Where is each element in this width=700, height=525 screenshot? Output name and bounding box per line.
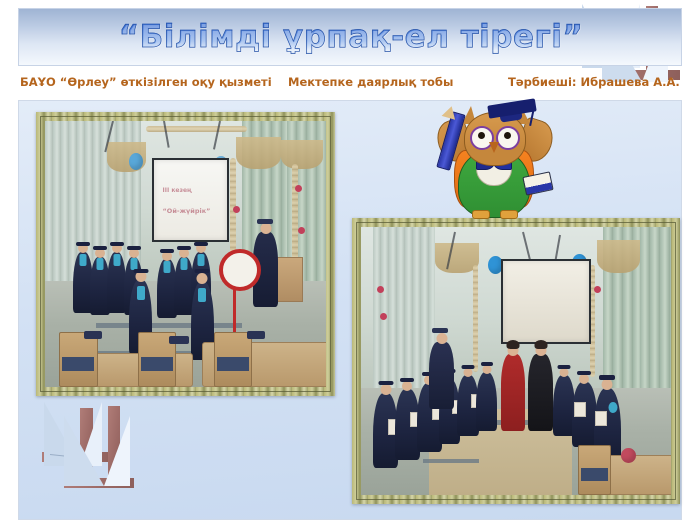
garland [146,126,247,132]
photo-left-image: III кезең “Ой-жүйрік” [45,121,326,387]
owl-foot-left [472,210,490,219]
teacher-hair [506,340,519,349]
screen-line-2: “Ой-жүйрік” [163,207,211,215]
floor-stripe [423,459,479,463]
graduation-cap-on-table [247,331,265,339]
screen-line-1: III кезең [163,187,192,194]
subtitle-teacher: Тәрбиеші: Ибрашева А.А. [508,72,680,92]
pyramid-face-left [64,416,104,486]
hall-scene: III кезең “Ой-жүйрік” [45,121,326,387]
subtitle-group: Мектепке даярлық тобы [288,72,453,92]
floor-stripe [96,323,242,328]
teacher-black [528,324,553,431]
graduation-cap [133,269,148,273]
face [560,368,569,377]
chair [578,445,611,495]
pyramid-face-right [104,416,130,486]
teacher-dress [501,354,526,431]
teacher-hair [534,340,547,349]
book-icon [522,171,553,195]
presentation-slide: “Білімді ұрпақ-ел тірегі” БАҰО “Өрлеу” ө… [0,0,700,525]
certificate [574,402,586,417]
photo-right[interactable] [352,218,680,504]
certificate [595,411,607,426]
face [197,273,208,284]
host-head [436,333,447,344]
adult-head [260,223,271,234]
subtitle-organization: БАҰО “Өрлеу” өткізілген оқу қызметі [20,72,272,92]
graduation-cap [400,378,414,382]
chair-seat [581,468,608,481]
face [463,368,472,377]
face [602,379,613,390]
sash [137,286,145,300]
owl-pupil-right [504,132,511,139]
flower [295,185,302,192]
chair-seat [62,357,94,371]
graduation-cap [461,365,474,369]
graduation-cap [432,328,448,333]
face [402,381,412,391]
graduation-cap [110,242,124,246]
graduation-cap [558,365,571,369]
gown [476,372,498,431]
host-gown [429,342,454,409]
chair-seat [217,357,249,371]
sash [181,258,188,270]
valance [281,140,323,169]
graduation-cap [194,242,208,246]
graduation-cap-on-table [84,331,102,339]
flower [377,286,384,293]
slide-title: “Білімді ұрпақ-ел тірегі” [19,9,683,67]
photo-left[interactable]: III кезең “Ой-жүйрік” [36,112,335,396]
valance [597,240,640,272]
sash [164,261,171,273]
face [135,271,146,282]
graduation-cap [195,269,210,273]
owl-foot-right [500,210,518,219]
owl-pupil-left [478,132,485,139]
graduation-cap [599,375,615,380]
sash [113,254,120,266]
graduation-cap [127,246,141,250]
graduation-cap [177,246,191,250]
chair [59,332,98,387]
flower [594,286,601,293]
projection-screen: III кезең “Ой-жүйрік” [152,158,229,242]
sash [96,258,103,270]
child-graduate [476,356,498,431]
chair [214,332,253,387]
chair-seat [141,357,173,371]
sash [79,254,86,266]
balloon-held [609,402,618,413]
graduation-cap [378,381,393,385]
flower [380,313,387,320]
adult-host [429,318,454,409]
title-banner: “Білімді ұрпақ-ел тірегі” [18,8,682,66]
sash [198,288,206,302]
graduation-cap [93,246,107,250]
ceremony-scene [361,227,671,495]
graduation-cap [76,242,90,246]
valance [236,137,281,169]
graduate-owl-mascot [432,98,556,224]
face [380,384,391,395]
teacher-dress [528,354,553,431]
subtitle-row: БАҰО “Өрлеу” өткізілген оқу қызметі Мект… [18,72,682,96]
graduation-cap [577,371,591,375]
teacher-red [501,324,526,431]
photo-right-image [361,227,671,495]
owl-beak [489,142,499,153]
graduation-cap [481,362,493,366]
graduation-cap [160,249,174,253]
graduation-cap-on-table [169,336,189,344]
pyramid-decoration-bottom-left [32,392,172,500]
graduation-cap [257,219,273,224]
